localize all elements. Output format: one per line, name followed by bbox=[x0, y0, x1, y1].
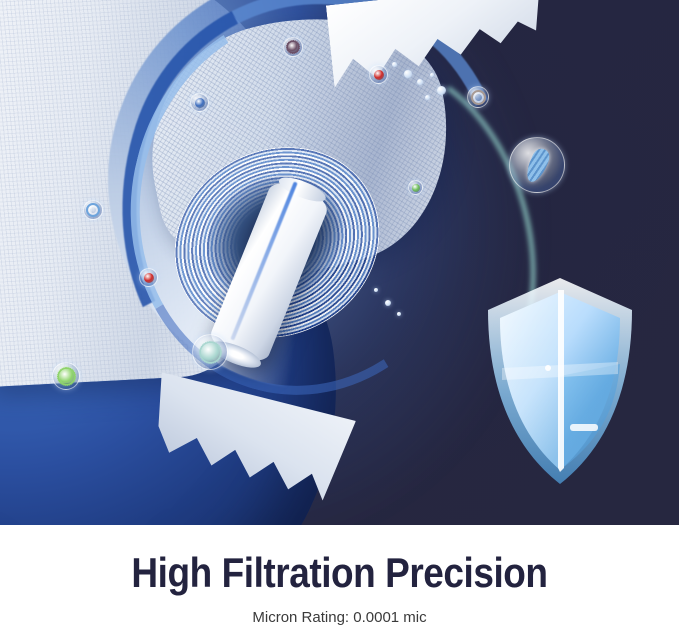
micron-rating-label: Micron Rating: 0.0001 mic bbox=[0, 595, 679, 627]
water-droplet bbox=[385, 300, 391, 306]
germ-blue-top bbox=[83, 200, 103, 220]
shield-icon bbox=[480, 272, 640, 492]
germ-green-left bbox=[52, 362, 80, 390]
product-title: High Filtration Precision bbox=[41, 525, 639, 595]
water-droplet bbox=[374, 288, 378, 292]
germ-red bbox=[369, 65, 388, 84]
water-droplet bbox=[404, 70, 412, 78]
germ-blue-dot bbox=[190, 93, 209, 112]
water-droplet bbox=[430, 73, 434, 77]
microbe-body bbox=[86, 203, 100, 217]
germ-purple-spiky bbox=[283, 37, 303, 57]
microbe-body bbox=[412, 184, 420, 192]
microbe-body bbox=[471, 90, 486, 105]
microbe-body bbox=[288, 42, 298, 52]
water-droplet bbox=[417, 79, 423, 85]
caption-block: High Filtration Precision Micron Rating:… bbox=[0, 525, 679, 637]
germ-beige-ring bbox=[467, 86, 489, 108]
germ-red-lower bbox=[139, 268, 158, 287]
water-droplet bbox=[437, 86, 446, 95]
microbe-body bbox=[201, 343, 220, 362]
germ-green-small bbox=[408, 180, 423, 195]
water-droplet bbox=[425, 95, 430, 100]
germ-teal-spiky bbox=[192, 334, 228, 370]
microbe-body bbox=[374, 70, 384, 80]
water-droplet bbox=[392, 62, 397, 67]
product-feature-card: High Filtration Precision Micron Rating:… bbox=[0, 0, 679, 637]
germ-bacterium-blue bbox=[509, 137, 565, 193]
microbe-body bbox=[195, 98, 205, 108]
microbe-body bbox=[144, 273, 154, 283]
water-droplet bbox=[397, 312, 401, 316]
hero-image bbox=[0, 0, 679, 525]
microbe-body bbox=[59, 369, 74, 384]
